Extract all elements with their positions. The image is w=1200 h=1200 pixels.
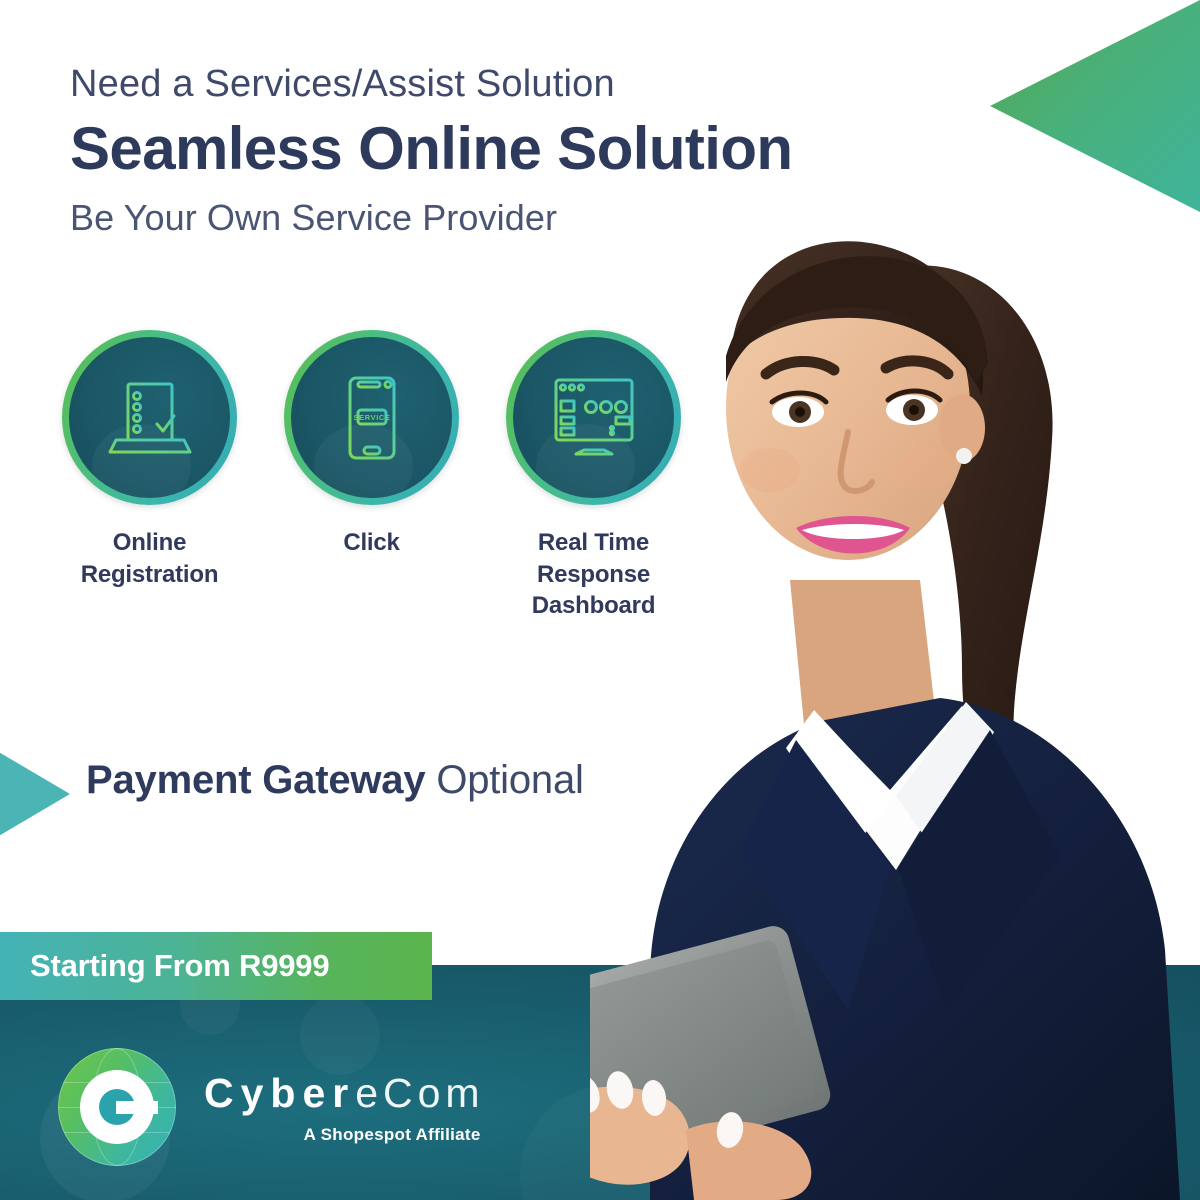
feature-label-line1: Click <box>343 529 399 556</box>
feature-label-line1: Real Time <box>538 529 649 556</box>
logo-tagline: A Shopespot Affiliate <box>204 1125 485 1145</box>
feature-circle <box>62 330 237 505</box>
businesswoman-photo <box>590 150 1200 1200</box>
globe-c-logo-icon <box>58 1048 176 1166</box>
headline-subhead: Be Your Own Service Provider <box>70 196 940 239</box>
price-banner-text: Starting From R9999 <box>0 948 329 984</box>
headline-main: Seamless Online Solution <box>70 115 940 182</box>
feature-label-line3: Dashboard <box>532 592 656 619</box>
feature-item-click[interactable]: SERVICE Click <box>284 330 459 622</box>
logo-name-ecom: eCom <box>355 1070 484 1116</box>
feature-list: Online Registration <box>62 330 681 622</box>
headline-eyebrow: Need a Services/Assist Solution <box>70 62 940 107</box>
feature-circle-inner <box>69 337 230 498</box>
laptop-checklist-icon <box>104 372 196 464</box>
left-arrow-decoration <box>0 728 70 860</box>
payment-gateway-line: Payment Gateway Optional <box>86 758 584 803</box>
headline-block: Need a Services/Assist Solution Seamless… <box>70 62 940 239</box>
dashboard-monitor-icon <box>546 370 642 466</box>
phone-screen-service-label: SERVICE <box>353 413 390 422</box>
brand-logo[interactable]: CybereCom A Shopespot Affiliate <box>58 1048 485 1166</box>
feature-label: Real Time Response Dashboard <box>532 527 656 622</box>
feature-circle: SERVICE <box>284 330 459 505</box>
feature-circle <box>506 330 681 505</box>
price-banner: Starting From R9999 <box>0 932 432 1000</box>
payment-gateway-optional: Optional <box>436 758 583 802</box>
logo-c-mark <box>80 1070 154 1144</box>
feature-label-line2: Registration <box>81 561 219 588</box>
feature-item-online-registration[interactable]: Online Registration <box>62 330 237 622</box>
poster-canvas: Need a Services/Assist Solution Seamless… <box>0 0 1200 1200</box>
logo-name-cyber: Cyber <box>204 1070 355 1116</box>
feature-label-line1: Online <box>113 529 186 556</box>
smartphone-service-icon: SERVICE <box>326 372 418 464</box>
logo-name: CybereCom <box>204 1073 485 1114</box>
globe-shape <box>58 1048 176 1166</box>
payment-gateway-bold: Payment Gateway <box>86 758 425 802</box>
feature-label: Click <box>343 527 399 559</box>
feature-circle-inner <box>513 337 674 498</box>
logo-text-group: CybereCom A Shopespot Affiliate <box>204 1069 485 1145</box>
feature-circle-inner: SERVICE <box>291 337 452 498</box>
feature-item-dashboard[interactable]: Real Time Response Dashboard <box>506 330 681 622</box>
feature-label-line2: Response <box>537 561 650 588</box>
feature-label: Online Registration <box>81 527 219 590</box>
